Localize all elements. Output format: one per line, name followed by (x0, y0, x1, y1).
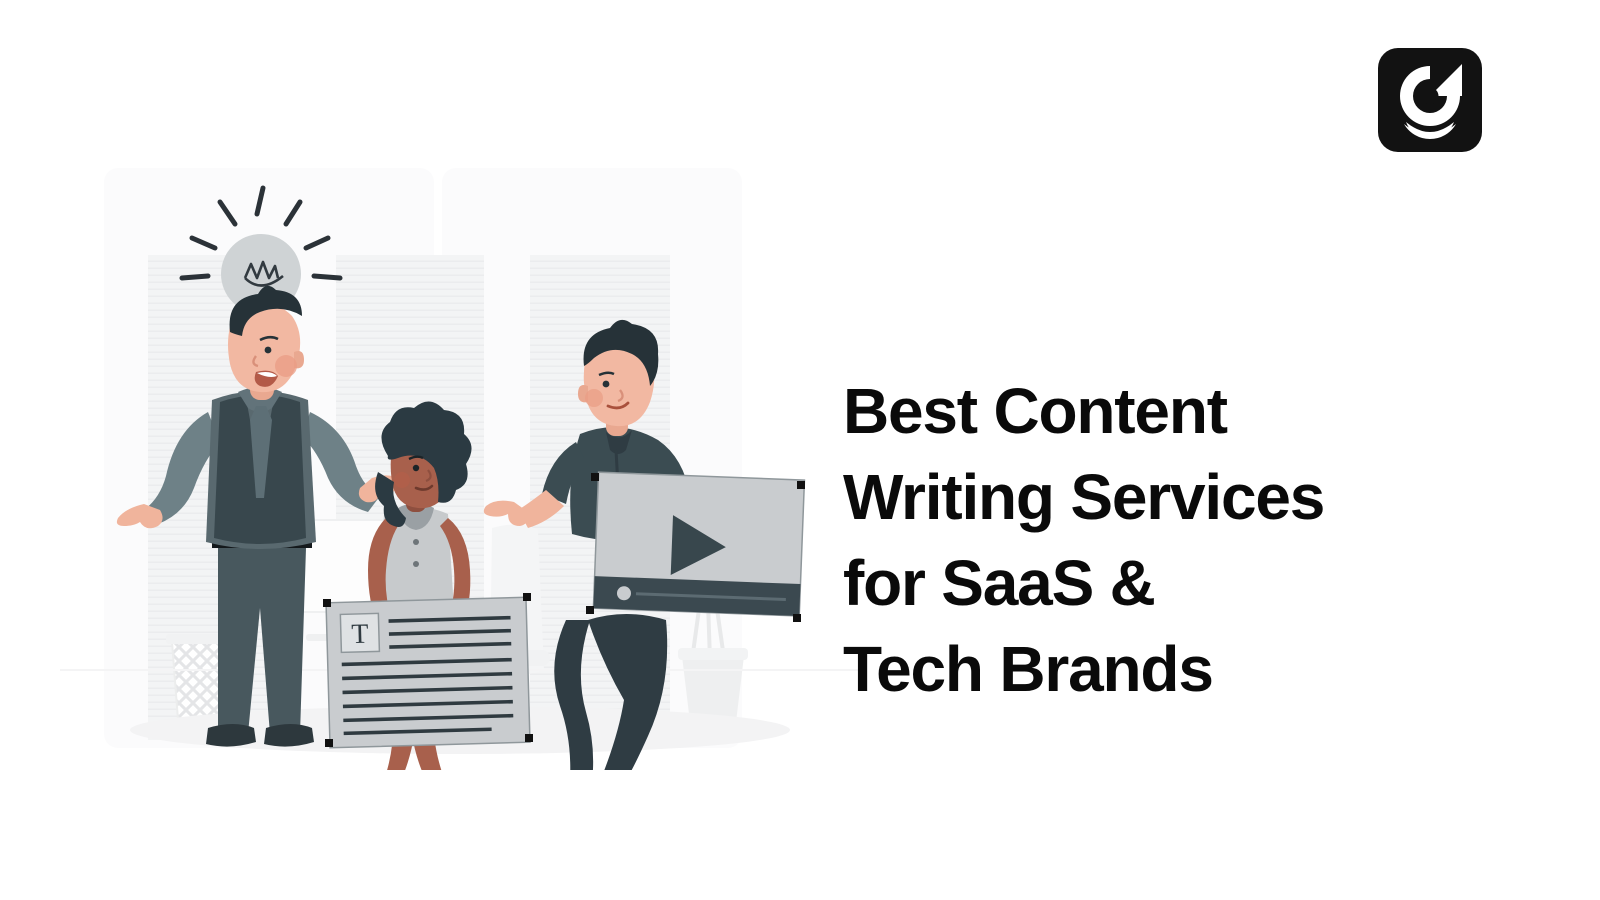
cheek (585, 389, 603, 407)
g-lens-mark (1400, 64, 1462, 139)
shoe-right (264, 724, 314, 747)
eye (265, 347, 272, 354)
logo-badge[interactable] (1378, 48, 1482, 152)
document-t-letter: T (351, 619, 369, 650)
content-team-office-illustration: T (60, 150, 860, 770)
banner-canvas: T (0, 0, 1600, 900)
eye (413, 465, 419, 471)
page-title: Best Content Writing Services for SaaS &… (843, 368, 1483, 712)
cheek (275, 355, 297, 377)
shoe-left (206, 724, 256, 747)
cheek (394, 472, 410, 488)
video-player-panel (586, 472, 805, 622)
text-document-panel: T (323, 593, 533, 748)
eye (603, 381, 610, 388)
